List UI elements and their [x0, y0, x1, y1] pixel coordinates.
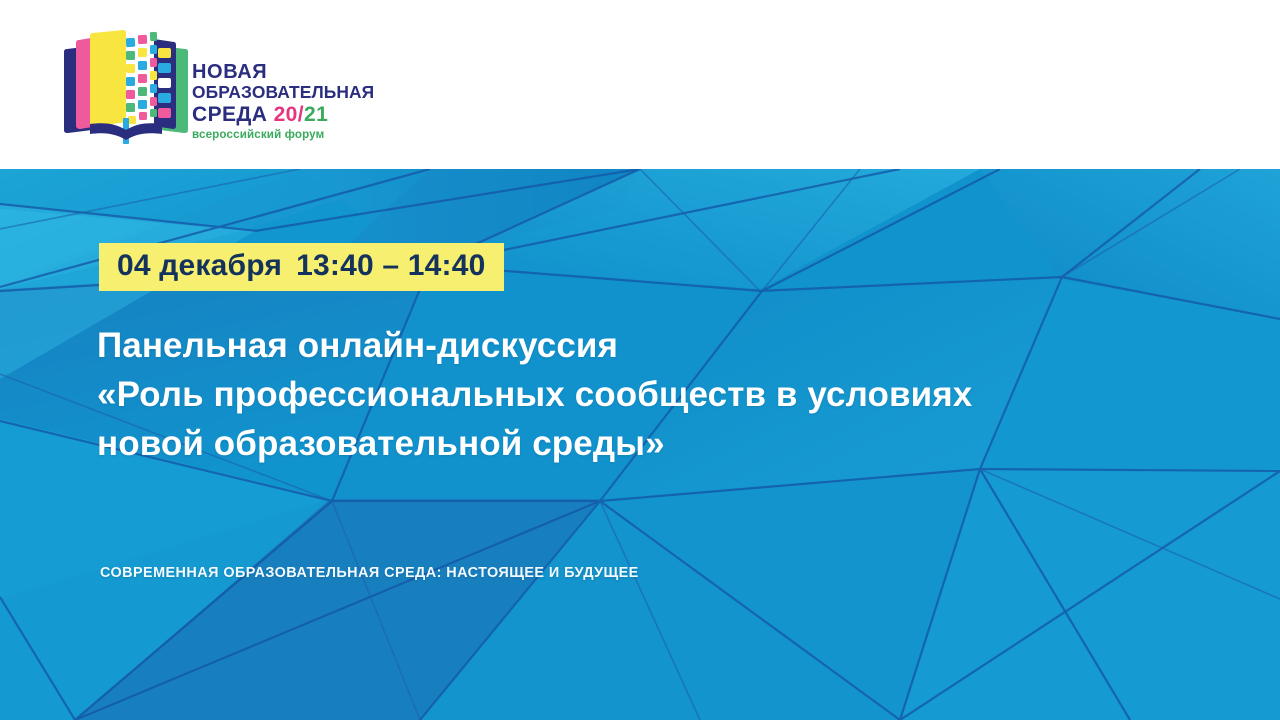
session-time-range: 13:40 – 14:40 [296, 249, 485, 282]
logo-year-21: 21 [304, 103, 328, 126]
track-name-kicker: СОВРЕМЕННАЯ ОБРАЗОВАТЕЛЬНАЯ СРЕДА: НАСТО… [100, 565, 639, 581]
session-date: 04 декабря [117, 249, 282, 282]
logo-tagline: всероссийский форум [192, 126, 382, 143]
session-title-line-1: Панельная онлайн-дискуссия [97, 321, 1097, 370]
logo-year-20: 20 [274, 103, 298, 126]
logo-line-sreda-year: СРЕДА 20/21 [192, 103, 382, 127]
logo-wordmark: НОВАЯ ОБРАЗОВАТЕЛЬНАЯ СРЕДА 20/21 всерос… [192, 62, 382, 144]
logo-line-novaya: НОВАЯ [192, 62, 382, 82]
presentation-slide: НОВАЯ ОБРАЗОВАТЕЛЬНАЯ СРЕДА 20/21 всерос… [0, 0, 1280, 720]
session-title-line-3: новой образовательной среды» [97, 419, 1097, 468]
session-title: Панельная онлайн-дискуссия «Роль професс… [97, 321, 1097, 468]
logo-word-sreda: СРЕДА [192, 103, 267, 126]
session-title-line-2: «Роль профессиональных сообществ в услов… [97, 370, 1097, 419]
slide-content: 04 декабря13:40 – 14:40 Панельная онлайн… [0, 169, 1280, 720]
open-book-logo-icon [62, 22, 190, 146]
forum-logo: НОВАЯ ОБРАЗОВАТЕЛЬНАЯ СРЕДА 20/21 всерос… [62, 22, 382, 150]
session-datetime-badge: 04 декабря13:40 – 14:40 [99, 243, 504, 291]
header-band: НОВАЯ ОБРАЗОВАТЕЛЬНАЯ СРЕДА 20/21 всерос… [0, 0, 1280, 169]
logo-line-obrazovatelnaya: ОБРАЗОВАТЕЛЬНАЯ [192, 82, 382, 103]
